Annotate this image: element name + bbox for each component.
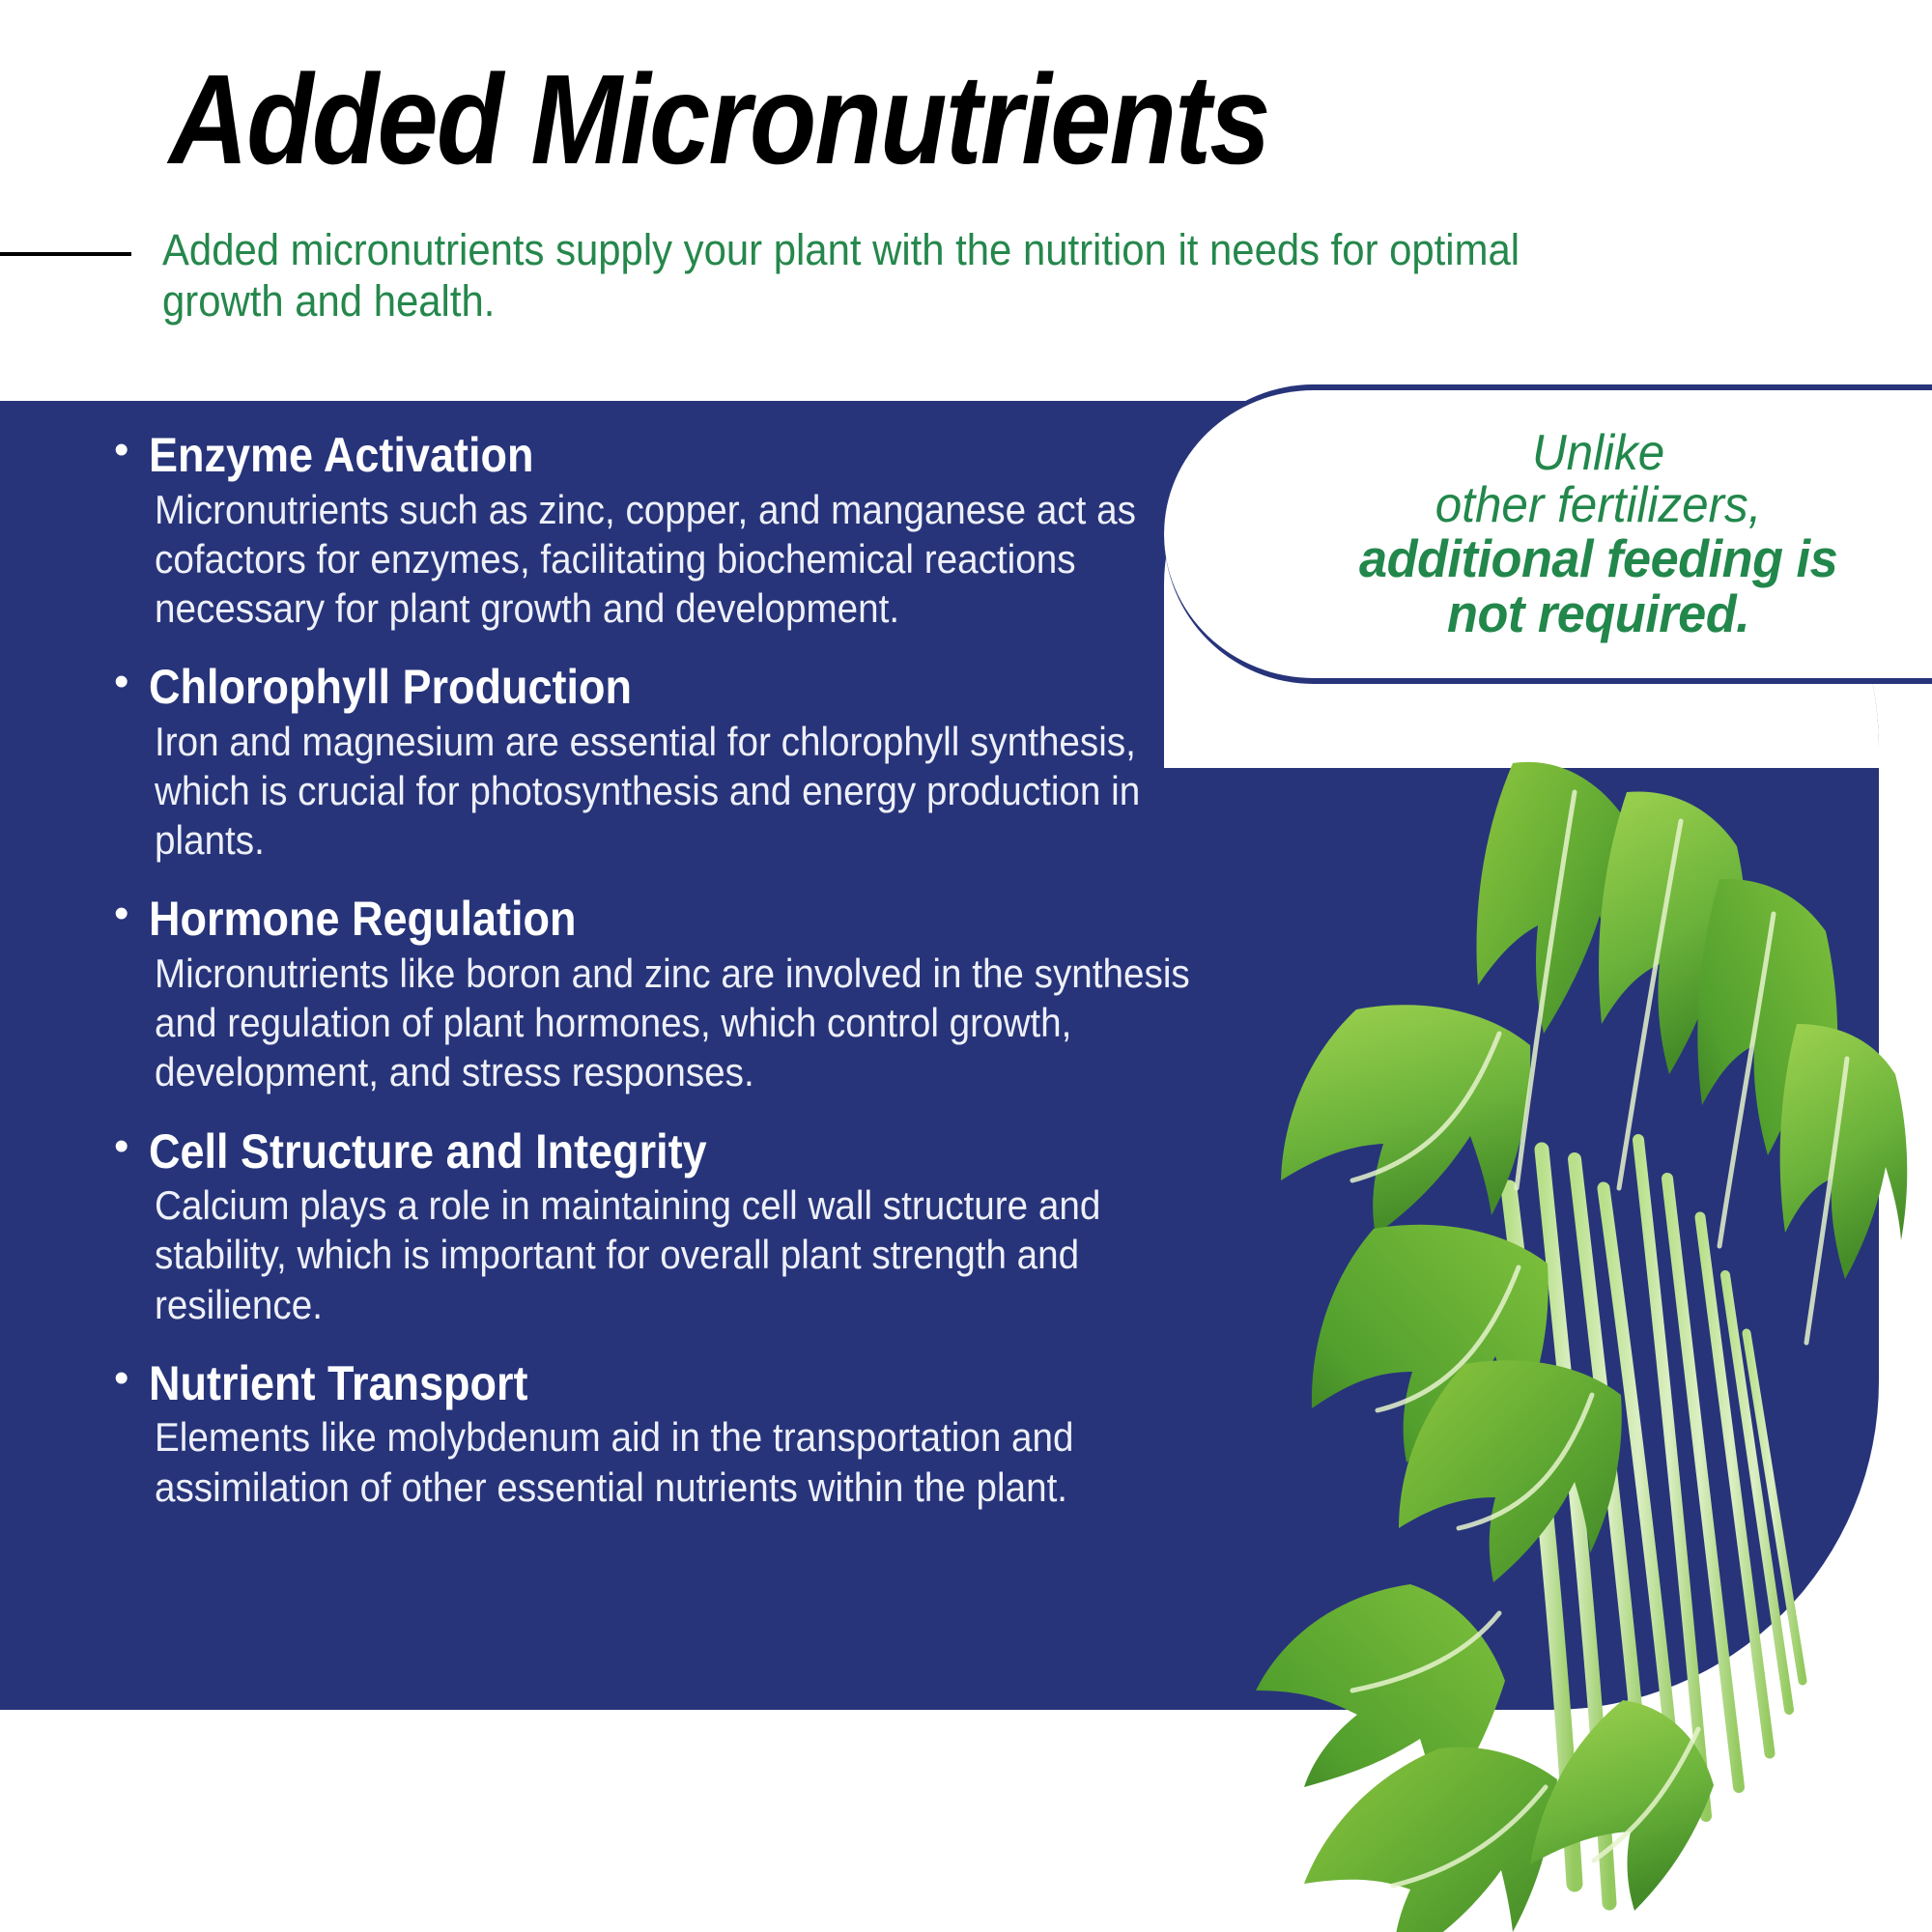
page-title: Added Micronutrients [169, 56, 1269, 184]
bullet-dot-icon: • [114, 1126, 131, 1167]
callout-line-2: other fertilizers, [1359, 479, 1837, 531]
callout-line-1: Unlike [1359, 427, 1837, 479]
list-item: • Hormone Regulation Micronutrients like… [114, 894, 1186, 1096]
list-item-header: • Enzyme Activation [114, 430, 1186, 481]
page-subtitle: Added micronutrients supply your plant w… [162, 224, 1564, 327]
bullet-dot-icon: • [114, 1358, 131, 1399]
callout-box: Unlike other fertilizers, additional fee… [1164, 384, 1932, 684]
list-item-body: Elements like molybdenum aid in the tran… [155, 1412, 1204, 1511]
list-item-body: Calcium plays a role in maintaining cell… [155, 1180, 1204, 1329]
callout-line-3: additional feeding is [1359, 531, 1837, 586]
bullet-dot-icon: • [114, 894, 131, 934]
list-item-title: Nutrient Transport [149, 1358, 528, 1409]
list-item-header: • Nutrient Transport [114, 1358, 1186, 1409]
list-item-header: • Chlorophyll Production [114, 662, 1186, 713]
list-item-body: Micronutrients such as zinc, copper, and… [155, 485, 1204, 634]
list-item-header: • Hormone Regulation [114, 894, 1186, 945]
list-item: • Chlorophyll Production Iron and magnes… [114, 662, 1186, 865]
list-item: • Nutrient Transport Elements like molyb… [114, 1358, 1186, 1512]
bullet-dot-icon: • [114, 430, 131, 470]
header: Added Micronutrients Added micronutrient… [0, 0, 1932, 401]
list-item-body: Iron and magnesium are essential for chl… [155, 717, 1204, 866]
bullet-dot-icon: • [114, 662, 131, 702]
benefits-list: • Enzyme Activation Micronutrients such … [114, 430, 1186, 1541]
list-item-header: • Cell Structure and Integrity [114, 1126, 1186, 1178]
list-item: • Enzyme Activation Micronutrients such … [114, 430, 1186, 633]
list-item-body: Micronutrients like boron and zinc are i… [155, 949, 1204, 1097]
callout-text: Unlike other fertilizers, additional fee… [1231, 427, 1869, 642]
callout-line-4: not required. [1359, 586, 1837, 641]
list-item: • Cell Structure and Integrity Calcium p… [114, 1126, 1186, 1329]
list-item-title: Cell Structure and Integrity [149, 1126, 707, 1178]
list-item-title: Chlorophyll Production [149, 662, 632, 713]
list-item-title: Enzyme Activation [149, 430, 533, 481]
list-item-title: Hormone Regulation [149, 894, 577, 945]
title-rule [0, 252, 131, 256]
